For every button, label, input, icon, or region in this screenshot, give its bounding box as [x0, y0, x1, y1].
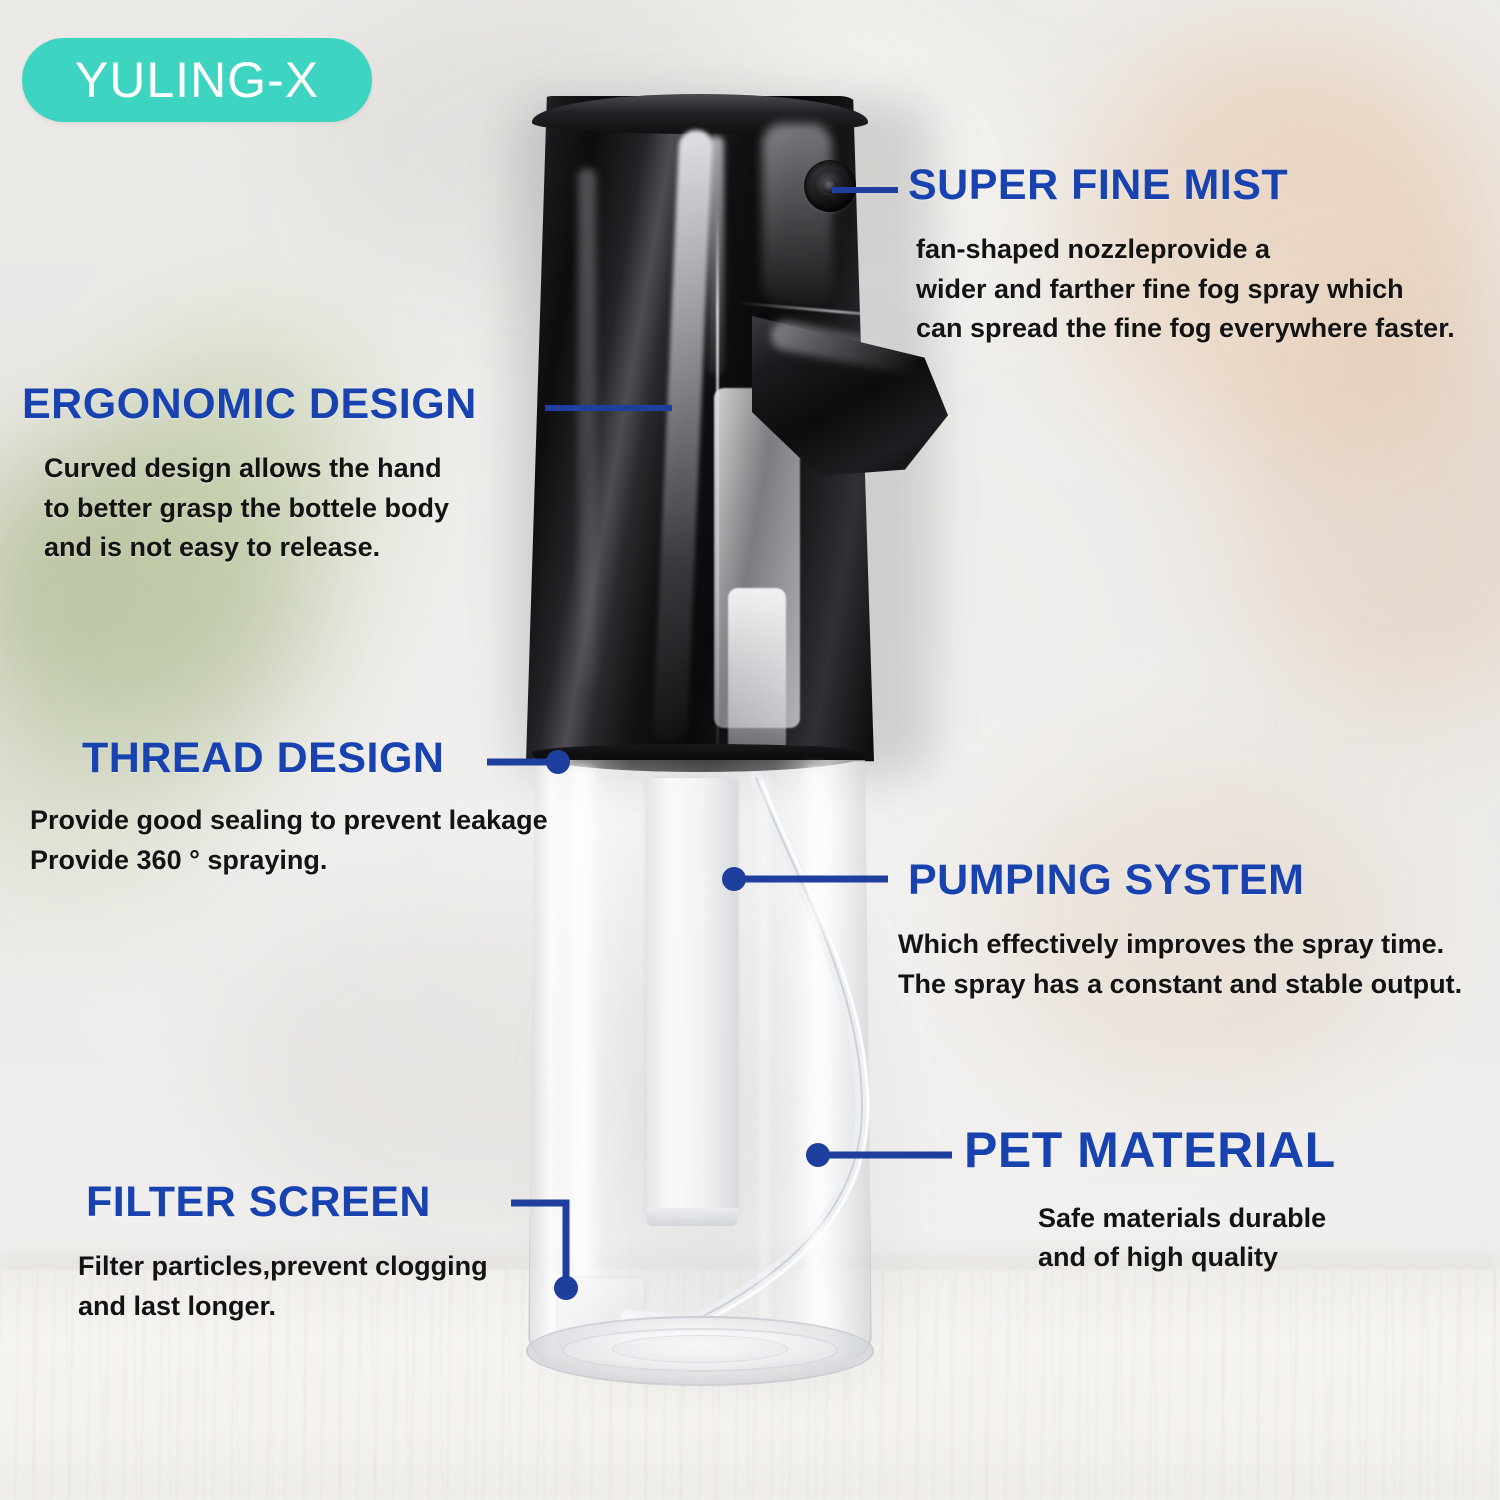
bottle-highlight-left: [562, 766, 602, 1336]
callout-body-pumping-system: Which effectively improves the spray tim…: [898, 925, 1462, 1004]
infographic-canvas: YULING-X SUPER FINE MIST fan-shaped nozz…: [0, 0, 1500, 1500]
callout-body-thread-design: Provide good sealing to prevent leakage …: [30, 801, 548, 880]
callout-body-filter-screen: Filter particles,prevent clogging and la…: [78, 1247, 488, 1326]
callout-ergonomic-design: ERGONOMIC DESIGN Curved design allows th…: [22, 382, 477, 567]
callout-title-thread-design: THREAD DESIGN: [82, 736, 548, 781]
callout-pumping-system: PUMPING SYSTEM Which effectively improve…: [908, 858, 1462, 1004]
callout-body-ergonomic-design: Curved design allows the hand to better …: [44, 449, 477, 567]
brand-badge: YULING-X: [22, 38, 372, 122]
brand-name: YULING-X: [75, 51, 319, 109]
callout-title-filter-screen: FILTER SCREEN: [86, 1180, 488, 1225]
callout-title-ergonomic-design: ERGONOMIC DESIGN: [22, 382, 477, 427]
bottle-base-inner: [612, 1335, 788, 1363]
callout-body-super-fine-mist: fan-shaped nozzleprovide a wider and far…: [916, 230, 1455, 348]
callout-title-pet-material: PET MATERIAL: [964, 1124, 1336, 1177]
callout-super-fine-mist: SUPER FINE MIST fan-shaped nozzleprovide…: [908, 163, 1455, 348]
callout-filter-screen: FILTER SCREEN Filter particles,prevent c…: [86, 1180, 488, 1326]
bottle-highlight-mid: [756, 778, 772, 1318]
bottle-highlight-right: [800, 766, 830, 1326]
callout-thread-design: THREAD DESIGN Provide good sealing to pr…: [82, 736, 548, 880]
callout-title-super-fine-mist: SUPER FINE MIST: [908, 163, 1455, 208]
callout-body-pet-material: Safe materials durable and of high quali…: [1038, 1199, 1336, 1278]
callout-title-pumping-system: PUMPING SYSTEM: [908, 858, 1462, 903]
callout-pet-material: PET MATERIAL Safe materials durable and …: [964, 1124, 1336, 1277]
